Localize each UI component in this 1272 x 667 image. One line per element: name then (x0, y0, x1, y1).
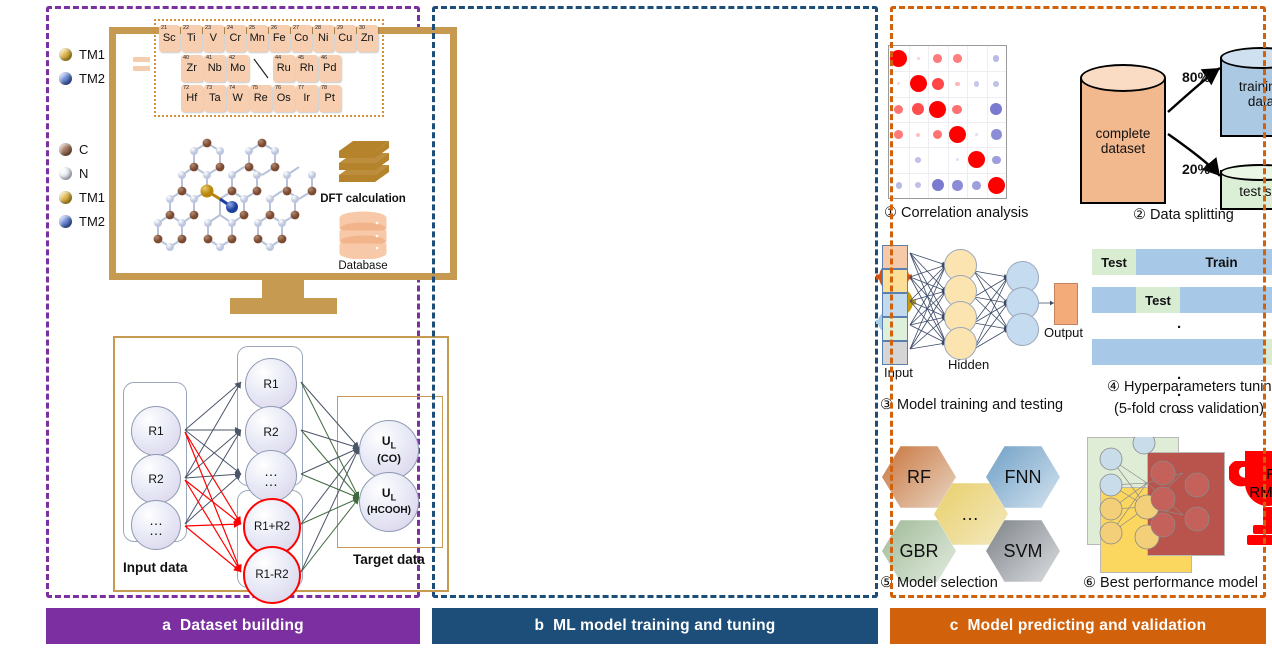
legend-label-tm1-atom: TM1 (79, 190, 105, 205)
monitor-stand-base (230, 298, 337, 314)
element-cell-cu: 29Cu (335, 25, 356, 52)
tm1-sphere-icon (59, 191, 72, 204)
footer-letter-a: a (162, 617, 171, 635)
legend-label-tm2: TM2 (79, 71, 105, 86)
legend-item-tm2: TM2 (59, 66, 129, 90)
element-symbol: Pd (319, 62, 341, 74)
atom-legend: C N TM1 TM2 (59, 137, 129, 233)
hidden-node-ellipsis: … … (245, 450, 297, 502)
hidden-node-ellipsis-label: … … (264, 466, 278, 486)
element-symbol: Re (250, 92, 272, 104)
feature-network-box: R1 R2 … … R1 R2 … … R1+R2 R1-R2 UL(CO) U… (113, 336, 449, 592)
legend-label-tm1: TM1 (79, 47, 105, 62)
element-symbol: Ni (313, 32, 334, 44)
footer-title-b: ML model training and tuning (553, 617, 775, 635)
input-node-r1-label: R1 (148, 425, 163, 437)
input-node-r2-label: R2 (148, 473, 163, 485)
legend-label-tm2-atom: TM2 (79, 214, 105, 229)
element-cell-pd: 46Pd (319, 55, 341, 82)
target-node-hcooh: UL(HCOOH) (359, 472, 419, 532)
panel-model-predicting: ··· UL (CO) 276 DACs input data ··· (890, 6, 1266, 598)
element-cell-w: 74W (227, 85, 249, 112)
element-symbol: Zr (181, 62, 203, 74)
input-node-ellipsis-label: … … (149, 515, 163, 535)
target-node-co-label: UL(CO) (377, 435, 401, 464)
input-node-r1: R1 (131, 406, 181, 456)
element-symbol: Ti (181, 32, 202, 44)
element-symbol: V (203, 32, 224, 44)
element-cell-ru: 44Ru (273, 55, 295, 82)
element-cell-ir: 77Ir (296, 85, 318, 112)
element-symbol: Hf (181, 92, 203, 104)
input-node-ellipsis: … … (131, 500, 181, 550)
input-node-r2: R2 (131, 454, 181, 504)
element-symbol: Ir (296, 92, 318, 104)
element-cell-cr: 24Cr (225, 25, 246, 52)
equals-sign-icon (133, 57, 150, 75)
footer-panel-b: b ML model training and tuning (432, 608, 878, 644)
element-cell-co: 27Co (291, 25, 312, 52)
database-label: Database (307, 260, 419, 272)
element-cell-v: 23V (203, 25, 224, 52)
element-symbol: Mo (227, 62, 249, 74)
hidden-node-r1-label: R1 (263, 378, 278, 390)
panel-dataset-building: TM1 TM2 21Sc22Ti23V24Cr25Mn26Fe27Co28Ni2… (46, 6, 420, 598)
element-symbol: Fe (269, 32, 290, 44)
nitrogen-sphere-icon (59, 167, 72, 180)
element-symbol: Cr (225, 32, 246, 44)
element-symbol: Rh (296, 62, 318, 74)
element-cell-re: 75Re (250, 85, 272, 112)
hidden-node-r1: R1 (245, 358, 297, 410)
element-cell-zr: 40Zr (181, 55, 203, 82)
periodic-table-row: 21Sc22Ti23V24Cr25Mn26Fe27Co28Ni29Cu30Zn (159, 25, 379, 54)
element-symbol: Ta (204, 92, 226, 104)
element-symbol: Ru (273, 62, 295, 74)
element-symbol: Sc (159, 32, 180, 44)
hidden-node-r1-plus-r2-label: R1+R2 (254, 521, 290, 533)
legend-item-tm1-atom: TM1 (59, 185, 129, 209)
footer-letter-b: b (535, 617, 545, 635)
tm1-sphere-icon (59, 48, 72, 61)
element-cell-mo: 42Mo (227, 55, 249, 82)
footer-title-c: Model predicting and validation (968, 617, 1207, 635)
element-symbol: Cu (335, 32, 356, 44)
legend-item-tm2-atom: TM2 (59, 209, 129, 233)
element-symbol: Mn (247, 32, 268, 44)
element-cell-ni: 28Ni (313, 25, 334, 52)
element-symbol: Os (273, 92, 295, 104)
hidden-node-r1-minus-r2: R1-R2 (243, 546, 301, 604)
hidden-node-r1-minus-r2-label: R1-R2 (255, 569, 288, 581)
svg-text:R²: R² (1266, 466, 1272, 483)
element-symbol: Co (291, 32, 312, 44)
element-cell-sc: 21Sc (159, 25, 180, 52)
element-cell-ta: 73Ta (204, 85, 226, 112)
element-cell-pt: 78Pt (319, 85, 341, 112)
hidden-node-r2-label: R2 (263, 426, 278, 438)
footer-title-a: Dataset building (180, 617, 304, 635)
element-cell-fe: 26Fe (269, 25, 290, 52)
database-icon (337, 211, 389, 259)
element-symbol: Nb (204, 62, 226, 74)
input-data-label: Input data (123, 560, 188, 575)
periodic-table-row: 40Zr41Nb42Mo44Ru45Rh46Pd (181, 55, 379, 84)
element-cell-mn: 25Mn (247, 25, 268, 52)
target-data-label: Target data (353, 552, 425, 567)
tm2-sphere-icon (59, 215, 72, 228)
element-symbol: Pt (319, 92, 341, 104)
element-symbol: W (227, 92, 249, 104)
footer-panel-a: a Dataset building (46, 608, 420, 644)
legend-item-tm1: TM1 (59, 42, 129, 66)
legend-item-n: N (59, 161, 129, 185)
dft-calculation-label: DFT calculation (307, 193, 419, 205)
legend-label-n: N (79, 166, 88, 181)
legend-item-c: C (59, 137, 129, 161)
tm2-sphere-icon (59, 72, 72, 85)
target-node-hcooh-label: UL(HCOOH) (367, 487, 411, 517)
periodic-table: 21Sc22Ti23V24Cr25Mn26Fe27Co28Ni29Cu30Zn4… (154, 19, 384, 117)
target-node-co: UL(CO) (359, 420, 419, 480)
element-cell-ti: 22Ti (181, 25, 202, 52)
element-cell-rh: 45Rh (296, 55, 318, 82)
footer-panel-c: c Model predicting and validation (890, 608, 1266, 644)
monitor-stand-neck (262, 280, 304, 298)
books-stack-icon (331, 137, 393, 189)
element-cell-os: 76Os (273, 85, 295, 112)
element-cell-zn: 30Zn (357, 25, 378, 52)
footer-letter-c: c (950, 617, 959, 635)
element-symbol: Zn (357, 32, 378, 44)
panel-ml-training: ① Correlation analysis complete dataset … (432, 6, 878, 598)
periodic-table-row: 72Hf73Ta74W75Re76Os77Ir78Pt (181, 85, 379, 114)
element-cell-nb: 41Nb (204, 55, 226, 82)
element-cell-hf: 72Hf (181, 85, 203, 112)
carbon-sphere-icon (59, 143, 72, 156)
element-cell-empty (250, 55, 272, 82)
legend-label-c: C (79, 142, 88, 157)
tm-legend: TM1 TM2 (59, 42, 129, 90)
